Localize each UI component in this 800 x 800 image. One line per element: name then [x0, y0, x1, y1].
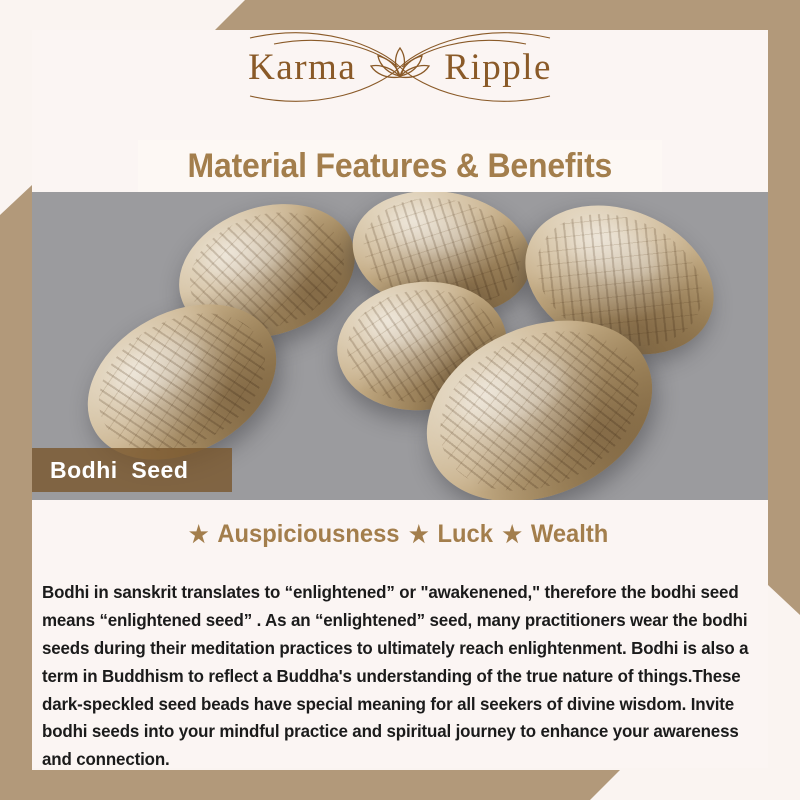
star-icon: ★ — [409, 521, 435, 547]
benefit-label: Luck — [437, 520, 499, 548]
brand-logo: Karma Ripple — [0, 24, 800, 110]
frame-band-left — [0, 185, 32, 800]
star-icon: ★ — [189, 521, 215, 547]
brand-word-left: Karma — [248, 46, 356, 89]
page-title: Material Features & Benefits — [188, 147, 613, 186]
photo-caption-label: Bodhi Seed — [32, 457, 188, 484]
star-icon: ★ — [502, 521, 528, 547]
product-info-card: Karma Ripple Material Features & Benefit… — [0, 0, 800, 800]
title-banner: Material Features & Benefits — [138, 140, 662, 192]
benefit-label: Auspiciousness — [217, 520, 406, 548]
brand-word-right: Ripple — [444, 46, 552, 89]
frame-band-bottom — [0, 770, 620, 800]
benefit-label: Wealth — [531, 520, 608, 548]
description-paragraph: Bodhi in sanskrit translates to “enlight… — [42, 579, 749, 774]
photo-caption-bar: Bodhi Seed — [32, 448, 232, 492]
benefits-line: ★ Auspiciousness ★ Luck ★ Wealth — [50, 520, 749, 549]
